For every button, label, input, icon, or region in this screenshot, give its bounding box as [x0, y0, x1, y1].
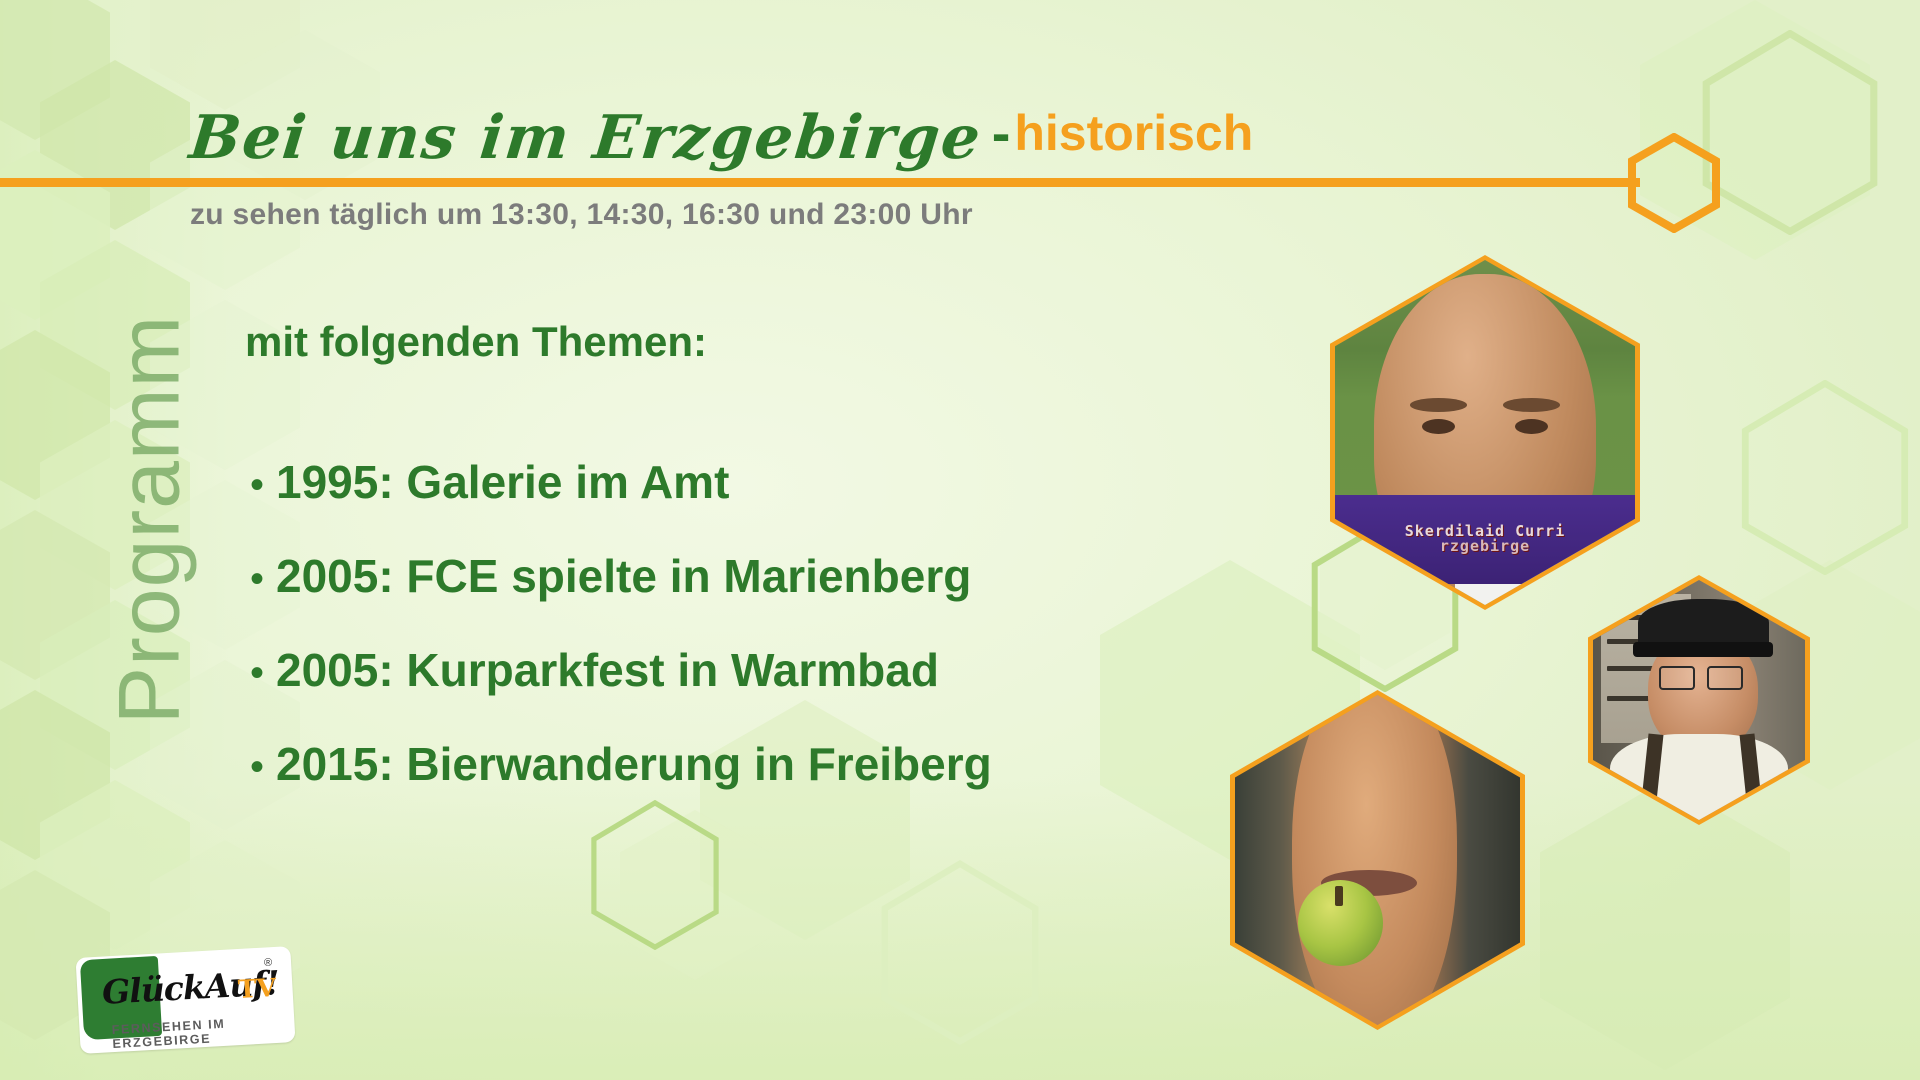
bullet-dot-icon: • — [250, 465, 276, 505]
bullet-dot-icon: • — [250, 747, 276, 787]
photo-man-sportsfield: Skerdilaid Curri rzgebirge — [1330, 255, 1640, 610]
topics-lead-text: mit folgenden Themen: — [245, 318, 707, 366]
list-item-label: 2015: Bierwanderung in Freiberg — [276, 737, 992, 791]
eye-right — [1515, 419, 1548, 434]
list-item-label: 2005: Kurparkfest in Warmbad — [276, 643, 939, 697]
list-item: • 1995: Galerie im Amt — [250, 455, 992, 509]
channel-logo[interactable]: GlückAuf! TV ® FERNSEHEN IM ERZGEBIRGE — [78, 952, 293, 1048]
list-item: • 2015: Bierwanderung in Freiberg — [250, 737, 992, 791]
chin-and-mouth-area — [1292, 695, 1457, 1025]
hex-photo-inner — [1235, 695, 1520, 1025]
title-dash: - — [982, 100, 1015, 165]
hex-photo-inner: Skerdilaid Curri rzgebirge — [1335, 260, 1635, 605]
eyebrow-left — [1410, 398, 1467, 412]
title-accent-text: historisch — [1014, 104, 1253, 162]
outline-hex-decor-1 — [1700, 30, 1880, 235]
broadcast-times-subtitle: zu sehen täglich um 13:30, 14:30, 16:30 … — [190, 198, 973, 232]
miner-cap-brim — [1633, 642, 1773, 656]
topics-list: • 1995: Galerie im Amt • 2005: FCE spiel… — [250, 455, 992, 831]
logo-tv-text: TV — [237, 973, 277, 1004]
outline-hex-decor-5 — [1740, 380, 1910, 575]
photo-scene — [1593, 580, 1805, 820]
bullet-dot-icon: • — [250, 559, 276, 599]
lower-third-caption: Skerdilaid Curri rzgebirge — [1335, 495, 1635, 585]
apple-stem — [1335, 886, 1344, 906]
photo-miner-with-cap — [1588, 575, 1810, 825]
list-item: • 2005: Kurparkfest in Warmbad — [250, 643, 992, 697]
caption-line-2: rzgebirge — [1440, 539, 1530, 555]
slide-canvas: Bei uns im Erzgebirge-historisch zu sehe… — [0, 0, 1920, 1080]
header-divider-rule — [0, 178, 1640, 187]
section-label-programm: Programm — [101, 200, 200, 840]
eye-left — [1422, 419, 1455, 434]
header-hexagon-cap-icon — [1628, 133, 1720, 238]
glasses-right-lens — [1707, 666, 1743, 689]
list-item-label: 2005: FCE spielte in Marienberg — [276, 549, 971, 603]
title-main-text: Bei uns im Erzgebirge — [186, 103, 985, 173]
hex-photo-inner — [1593, 580, 1805, 820]
glasses-left-lens — [1659, 666, 1695, 689]
photo-scene — [1235, 695, 1520, 1025]
list-item: • 2005: FCE spielte in Marienberg — [250, 549, 992, 603]
shirt — [1610, 734, 1788, 820]
bullet-dot-icon: • — [250, 653, 276, 693]
eyebrow-right — [1503, 398, 1560, 412]
list-item-label: 1995: Galerie im Amt — [276, 455, 729, 509]
logo-registered-icon: ® — [264, 957, 272, 969]
photo-apple-in-mouth — [1230, 690, 1525, 1030]
page-title: Bei uns im Erzgebirge-historisch — [190, 100, 1253, 173]
